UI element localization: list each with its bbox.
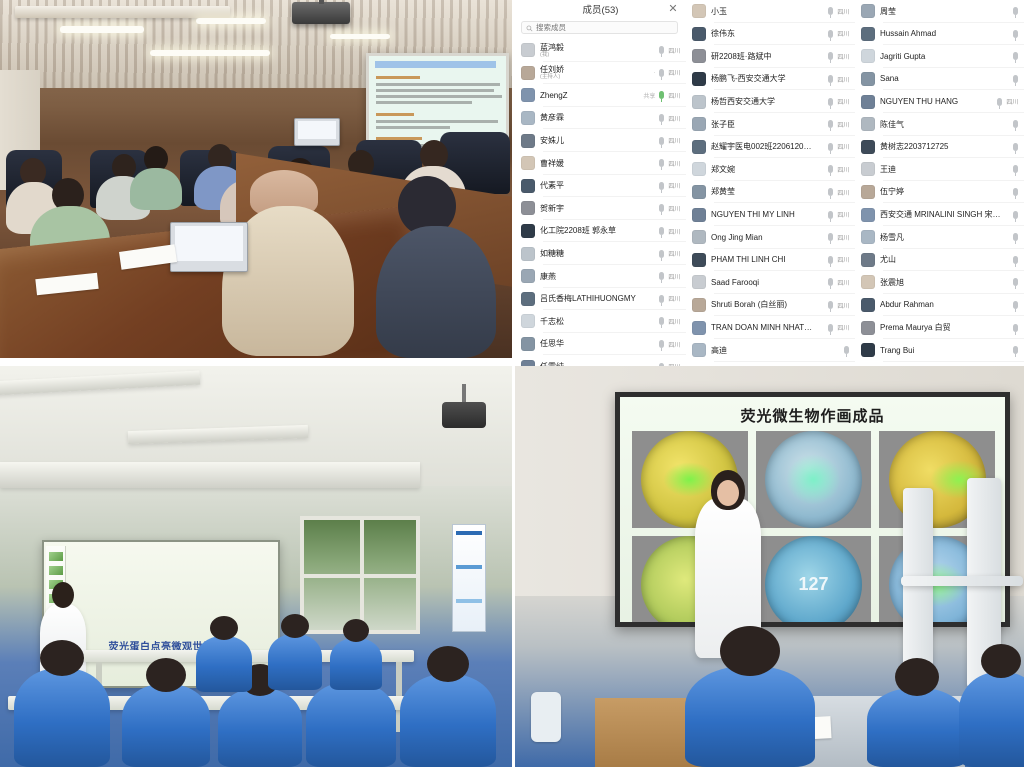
member-row[interactable]: 蓝鸿毅(我)四川: [515, 39, 686, 62]
microphone-icon[interactable]: [1013, 52, 1018, 60]
slide-line-4: [376, 101, 472, 104]
member-badges: 四川: [828, 255, 849, 264]
microphone-icon[interactable]: [828, 52, 833, 60]
member-name: 化工院2208班 郭永草: [540, 226, 654, 235]
ceiling-projector: [292, 2, 350, 24]
member-name: Hussain Ahmad: [880, 29, 1008, 38]
member-tag: 四川: [668, 204, 680, 213]
member-tag: 四川: [668, 91, 680, 100]
close-icon[interactable]: ✕: [668, 4, 678, 14]
member-name: 王迪: [880, 165, 1008, 174]
lab-beam-3: [0, 462, 420, 488]
slide-line-1: [376, 83, 500, 86]
avatar: [521, 292, 535, 306]
slide-title-bar: [375, 61, 496, 68]
microphone-icon[interactable]: [828, 211, 833, 219]
equipment-shelf: [901, 576, 1023, 586]
member-row[interactable]: 代素平四川: [515, 175, 686, 198]
microphone-icon[interactable]: [659, 114, 664, 122]
member-badges: 四川: [828, 142, 849, 151]
search-input[interactable]: [536, 23, 673, 32]
member-name: PHAM THI LINH CHI: [711, 255, 823, 264]
student-head-5: [427, 646, 469, 682]
avatar: [521, 111, 535, 125]
member-name: 张子臣: [711, 120, 823, 129]
member-tag: 四川: [837, 255, 849, 264]
member-row[interactable]: 曹祥媛四川: [515, 152, 686, 175]
microphone-icon[interactable]: [828, 233, 833, 241]
lab-student-8: [330, 638, 382, 690]
member-badges: 四川: [659, 340, 680, 349]
member-tag: 四川: [1006, 97, 1018, 106]
microphone-icon[interactable]: [1013, 188, 1018, 196]
member-row[interactable]: 千志松四川: [515, 310, 686, 333]
member-row[interactable]: 高迪: [686, 339, 855, 362]
member-row[interactable]: 杨雪凡: [855, 226, 1024, 249]
member-badges: [1013, 7, 1018, 15]
member-row[interactable]: 杨哲西安交通大学四川: [686, 90, 855, 113]
lecture-student-1: [685, 666, 815, 767]
lab-student-5: [400, 674, 496, 767]
lecture-student-head-2: [895, 658, 939, 696]
photo-lab-classroom-lecture: 荧光蛋白点亮微观世界 荧光蛋白实验介绍: [0, 366, 512, 767]
avatar: [861, 343, 875, 357]
member-role: (我): [540, 52, 654, 58]
microphone-icon[interactable]: [1013, 301, 1018, 309]
member-row[interactable]: 任刘娇(主持人)·四川: [515, 62, 686, 85]
microphone-icon[interactable]: [659, 250, 664, 258]
student-head-6: [210, 616, 238, 640]
lecture-student-3: [959, 672, 1024, 767]
member-row[interactable]: 安姝儿四川: [515, 129, 686, 152]
slide-line-heading-2: [376, 113, 414, 116]
projection-screen-fluorescent: 荧光微生物作画成品 127: [615, 392, 1010, 627]
member-name: Prema Maurya 白贸: [880, 323, 1008, 332]
member-row[interactable]: ZhengZ共享四川: [515, 84, 686, 107]
avatar: [861, 208, 875, 222]
microphone-icon[interactable]: [828, 324, 833, 332]
member-row[interactable]: TRAN DOAN MINH NHAT…四川: [686, 316, 855, 339]
microphone-icon[interactable]: [1013, 211, 1018, 219]
member-badges: 四川: [659, 294, 680, 303]
slide-line-6: [376, 126, 450, 129]
member-badges: 四川: [828, 210, 849, 219]
member-name: ZhengZ: [540, 91, 638, 100]
member-name: 陈佳气: [880, 120, 1008, 129]
ppt-thumb-2: [49, 566, 63, 575]
member-tag: 四川: [837, 188, 849, 197]
member-row[interactable]: Shruti Borah (白丝丽)四川: [686, 294, 855, 317]
ceiling-duct: [15, 6, 230, 18]
avatar: [521, 134, 535, 148]
member-name: NGUYEN THI MY LINH: [711, 210, 823, 219]
poster-band-3: [456, 599, 482, 603]
member-row[interactable]: 任思华四川: [515, 333, 686, 356]
member-row[interactable]: 小玉四川: [686, 0, 855, 23]
speaker-face: [717, 480, 739, 506]
slide-line-2: [376, 89, 494, 92]
search-bar[interactable]: [521, 21, 678, 34]
avatar: [861, 49, 875, 63]
member-tag: 四川: [837, 210, 849, 219]
member-badges: [1013, 188, 1018, 196]
member-name: 张震旭: [880, 278, 1008, 287]
microphone-icon[interactable]: [659, 272, 664, 280]
petri-cell-2: [756, 431, 872, 528]
lab-student-4: [306, 682, 396, 767]
wechat-member-panel[interactable]: 成员(53) ✕ 蓝鸿毅(我)四川任刘娇(主持人)·四川ZhengZ共享四川黄彦…: [515, 0, 1024, 358]
member-badges: 四川: [828, 233, 849, 242]
member-badges: [1013, 256, 1018, 264]
photo-conference-room-meeting: [0, 0, 512, 358]
ceiling-light-1: [60, 26, 144, 33]
student-head-1: [40, 640, 84, 676]
member-badges: [1013, 211, 1018, 219]
lab-student-3: [218, 688, 302, 767]
student-head-8: [343, 619, 369, 642]
foreground-person-2-body: [376, 226, 496, 358]
member-name: 杨鹏飞-西安交通大学: [711, 74, 823, 83]
member-name: 任思华: [540, 339, 654, 348]
member-column-2: 小玉四川徐伟东四川研2208班·路斌中四川杨鹏飞-西安交通大学四川杨哲西安交通大…: [686, 0, 855, 358]
member-name: 任刘娇(主持人): [540, 65, 648, 81]
member-badges: 四川: [828, 97, 849, 106]
member-tag: 四川: [668, 46, 680, 55]
member-badges: [844, 346, 849, 354]
member-column-3: 周莹Hussain AhmadJagriti GuptaSanaNGUYEN T…: [855, 0, 1024, 358]
member-row[interactable]: 张震旭: [855, 271, 1024, 294]
microphone-icon[interactable]: [659, 317, 664, 325]
member-badges: 四川: [828, 301, 849, 310]
avatar: [861, 117, 875, 131]
member-badges: 四川: [828, 278, 849, 287]
member-badges: 共享四川: [643, 91, 680, 100]
microphone-icon[interactable]: [1013, 75, 1018, 83]
member-name: 郑文婉: [711, 165, 823, 174]
member-name: 伍宁婷: [880, 187, 1008, 196]
attendee-body-4: [130, 168, 182, 210]
member-row[interactable]: Sana: [855, 68, 1024, 91]
member-badges: [1013, 165, 1018, 173]
laptop-screen-right: [298, 121, 336, 139]
avatar: [521, 88, 535, 102]
microphone-icon[interactable]: [659, 46, 664, 54]
microphone-icon[interactable]: [844, 346, 849, 354]
avatar: [861, 95, 875, 109]
avatar: [521, 66, 535, 80]
member-name: 小玉: [711, 7, 823, 16]
lecture-student-head-3: [981, 644, 1021, 678]
member-row[interactable]: NGUYEN THU HANG四川: [855, 90, 1024, 113]
lab-projector: [442, 402, 486, 428]
member-row[interactable]: 赵耀宇医电002班2206120…四川: [686, 136, 855, 159]
member-row[interactable]: 尤山: [855, 249, 1024, 272]
member-name: Trang Bui: [880, 346, 1008, 355]
avatar: [861, 275, 875, 289]
microphone-icon[interactable]: [828, 75, 833, 83]
member-tag: 四川: [837, 52, 849, 61]
ceiling-light-3: [150, 50, 270, 56]
member-name: 研2208班·路斌中: [711, 52, 823, 61]
microphone-icon[interactable]: [659, 340, 664, 348]
member-badges: [1013, 278, 1018, 286]
photo-fluorescent-microbe-lecture: 荧光微生物作画成品 127: [515, 366, 1024, 767]
avatar: [521, 337, 535, 351]
microphone-icon[interactable]: [828, 120, 833, 128]
member-row[interactable]: 西安交通 MRINALINI SINGH 宋永茗: [855, 203, 1024, 226]
member-row[interactable]: 张子臣四川: [686, 113, 855, 136]
avatar: [692, 72, 706, 86]
member-tag: 四川: [668, 136, 680, 145]
member-row[interactable]: 郑文婉四川: [686, 158, 855, 181]
microphone-icon[interactable]: [828, 7, 833, 15]
poster-band-2: [456, 565, 482, 569]
member-badges: 四川: [828, 188, 849, 197]
member-tag: 四川: [837, 97, 849, 106]
member-tag: 四川: [668, 68, 680, 77]
laptop-foreground: [170, 222, 248, 272]
member-name: 赵耀宇医电002班2206120…: [711, 142, 823, 151]
avatar: [861, 253, 875, 267]
lab-window: [300, 516, 420, 634]
microphone-icon[interactable]: [659, 182, 664, 190]
member-badges: 四川: [659, 136, 680, 145]
member-badges: 四川: [997, 97, 1018, 106]
member-badges: [1013, 143, 1018, 151]
avatar: [861, 230, 875, 244]
member-tag: 四川: [837, 29, 849, 38]
microphone-icon[interactable]: [659, 91, 664, 99]
member-badges: [1013, 52, 1018, 60]
avatar: [692, 230, 706, 244]
member-badges: 四川: [828, 75, 849, 84]
member-tag: 四川: [668, 272, 680, 281]
avatar: [521, 156, 535, 170]
member-tag: 四川: [837, 142, 849, 151]
poster-band-1: [456, 531, 482, 535]
member-tag: 四川: [668, 181, 680, 190]
student-head-7: [281, 614, 309, 638]
member-badges: 四川: [659, 317, 680, 326]
member-name: 徐伟东: [711, 29, 823, 38]
member-row[interactable]: Ong Jing Mian四川: [686, 226, 855, 249]
microphone-icon[interactable]: [1013, 7, 1018, 15]
laptop-screen: [175, 226, 243, 261]
microphone-icon[interactable]: [828, 30, 833, 38]
laptop-right: [294, 118, 340, 146]
member-badges: 四川: [828, 120, 849, 129]
lab-student-7: [268, 634, 322, 690]
member-row[interactable]: 化工院2208班 郭永草四川: [515, 220, 686, 243]
member-row[interactable]: 周莹: [855, 0, 1024, 23]
petri-dish-grid: 127: [632, 431, 995, 614]
member-name: 黄彦霖: [540, 113, 654, 122]
member-row[interactable]: Hussain Ahmad: [855, 23, 1024, 46]
avatar: [861, 162, 875, 176]
member-row[interactable]: Trang Bui: [855, 339, 1024, 362]
avatar: [692, 117, 706, 131]
member-name: 贺新宇: [540, 204, 654, 213]
microphone-icon[interactable]: [1013, 256, 1018, 264]
member-tag: 四川: [668, 294, 680, 303]
slide-line-3: [376, 95, 502, 98]
microphone-icon[interactable]: [1013, 233, 1018, 241]
slide-line-5: [376, 120, 498, 123]
lecture-student-2: [867, 688, 967, 767]
avatar: [692, 185, 706, 199]
member-row[interactable]: Prema Maurya 白贸: [855, 316, 1024, 339]
member-tag: 四川: [837, 120, 849, 129]
lab-student-6: [196, 636, 252, 692]
student-head-2: [146, 658, 186, 692]
member-tag: 四川: [837, 7, 849, 16]
member-badges: [1013, 120, 1018, 128]
share-indicator: ·: [653, 70, 655, 76]
microphone-icon[interactable]: [828, 188, 833, 196]
member-name: TRAN DOAN MINH NHAT…: [711, 323, 823, 332]
avatar: [692, 208, 706, 222]
microphone-icon[interactable]: [659, 227, 664, 235]
member-name: 黄树志2203712725: [880, 142, 1008, 151]
avatar: [692, 4, 706, 18]
microphone-icon[interactable]: [659, 159, 664, 167]
member-name: 千志松: [540, 317, 654, 326]
microphone-icon[interactable]: [1013, 278, 1018, 286]
microphone-icon[interactable]: [1013, 30, 1018, 38]
member-name: 吕氏香梅LATHIHUONGMY: [540, 294, 654, 303]
member-column-1: 成员(53) ✕ 蓝鸿毅(我)四川任刘娇(主持人)·四川ZhengZ共享四川黄彦…: [515, 0, 686, 358]
member-badges: 四川: [659, 204, 680, 213]
avatar: [692, 27, 706, 41]
member-row[interactable]: 吕氏香梅LATHIHUONGMY四川: [515, 288, 686, 311]
member-badges: 四川: [828, 165, 849, 174]
member-name: 代素平: [540, 181, 654, 190]
microphone-icon[interactable]: [659, 295, 664, 303]
member-name: Abdur Rahman: [880, 300, 1008, 309]
member-tag: 四川: [837, 75, 849, 84]
avatar: [692, 321, 706, 335]
member-name: 曹祥媛: [540, 159, 654, 168]
lab-student-1: [14, 668, 110, 767]
avatar: [861, 298, 875, 312]
member-row[interactable]: 黄树志2203712725: [855, 136, 1024, 159]
member-name: 尤山: [880, 255, 1008, 264]
microphone-icon[interactable]: [828, 301, 833, 309]
window-mullion-h: [304, 574, 416, 578]
member-list-3: 周莹Hussain AhmadJagriti GuptaSanaNGUYEN T…: [855, 0, 1024, 384]
avatar: [521, 43, 535, 57]
microphone-icon[interactable]: [828, 165, 833, 173]
member-tag: 四川: [837, 233, 849, 242]
member-name: 康燕: [540, 272, 654, 281]
member-row[interactable]: 陈佳气: [855, 113, 1024, 136]
member-name: 西安交通 MRINALINI SINGH 宋永茗: [880, 210, 1008, 219]
petri-dish-2: [765, 431, 862, 528]
member-row[interactable]: 黄彦霖四川: [515, 107, 686, 130]
member-row[interactable]: 康燕四川: [515, 265, 686, 288]
member-tag: 四川: [668, 249, 680, 258]
member-name: NGUYEN THU HANG: [880, 97, 992, 106]
petri-cell-5: 127: [756, 536, 872, 627]
microphone-icon[interactable]: [1013, 143, 1018, 151]
member-name: 安姝儿: [540, 136, 654, 145]
microphone-icon[interactable]: [1013, 346, 1018, 354]
member-badges: 四川: [659, 46, 680, 55]
member-row[interactable]: 贺新宇四川: [515, 197, 686, 220]
member-row[interactable]: Jagriti Gupta: [855, 45, 1024, 68]
microphone-icon[interactable]: [1013, 324, 1018, 332]
avatar: [692, 298, 706, 312]
member-row[interactable]: Abdur Rahman: [855, 294, 1024, 317]
member-name: 郑黄莹: [711, 187, 823, 196]
member-row[interactable]: 郑黄莹四川: [686, 181, 855, 204]
member-badges: [1013, 301, 1018, 309]
member-row[interactable]: 王迪: [855, 158, 1024, 181]
microphone-icon[interactable]: [828, 278, 833, 286]
share-indicator: 共享: [643, 91, 655, 100]
microphone-icon[interactable]: [828, 256, 833, 264]
member-badges: 四川: [659, 181, 680, 190]
member-list-2: 小玉四川徐伟东四川研2208班·路斌中四川杨鹏飞-西安交通大学四川杨哲西安交通大…: [686, 0, 855, 407]
member-row[interactable]: 徐伟东四川: [686, 23, 855, 46]
lab-instructor-head: [52, 582, 74, 608]
avatar: [861, 140, 875, 154]
avatar: [692, 253, 706, 267]
microphone-icon[interactable]: [1013, 165, 1018, 173]
member-tag: 四川: [668, 317, 680, 326]
member-tag: 四川: [668, 227, 680, 236]
member-name: 杨哲西安交通大学: [711, 97, 823, 106]
member-badges: [1013, 346, 1018, 354]
member-row[interactable]: 杨鹏飞-西安交通大学四川: [686, 68, 855, 91]
microphone-icon[interactable]: [659, 69, 664, 77]
member-badges: [1013, 30, 1018, 38]
member-badges: [1013, 233, 1018, 241]
member-tag: 四川: [837, 165, 849, 174]
petri-dish-5: 127: [765, 536, 862, 627]
member-name: Saad Farooqi: [711, 278, 823, 287]
member-badges: 四川: [659, 272, 680, 281]
wall-poster: [452, 524, 486, 632]
microphone-icon[interactable]: [828, 143, 833, 151]
member-row[interactable]: Saad Farooqi四川: [686, 271, 855, 294]
member-badges: 四川: [659, 114, 680, 123]
member-tag: 四川: [668, 340, 680, 349]
avatar: [521, 314, 535, 328]
member-row[interactable]: 研2208班·路斌中四川: [686, 45, 855, 68]
ceiling-light-2: [196, 18, 266, 24]
member-row[interactable]: 伍宁婷: [855, 181, 1024, 204]
member-name: Jagriti Gupta: [880, 52, 1008, 61]
member-name: 如糖糖: [540, 249, 654, 258]
microphone-icon[interactable]: [659, 137, 664, 145]
microphone-icon[interactable]: [997, 98, 1002, 106]
avatar: [861, 185, 875, 199]
page-title: 成员(53): [583, 2, 619, 16]
microphone-icon[interactable]: [659, 204, 664, 212]
member-badges: 四川: [828, 29, 849, 38]
avatar: [861, 27, 875, 41]
microphone-icon[interactable]: [828, 98, 833, 106]
member-row[interactable]: PHAM THI LINH CHI四川: [686, 249, 855, 272]
member-badges: 四川: [659, 249, 680, 258]
member-badges: 四川: [659, 227, 680, 236]
avatar: [521, 269, 535, 283]
member-row[interactable]: NGUYEN THI MY LINH四川: [686, 203, 855, 226]
microphone-icon[interactable]: [1013, 120, 1018, 128]
member-name: 杨雪凡: [880, 233, 1008, 242]
member-row[interactable]: 如糖糖四川: [515, 242, 686, 265]
